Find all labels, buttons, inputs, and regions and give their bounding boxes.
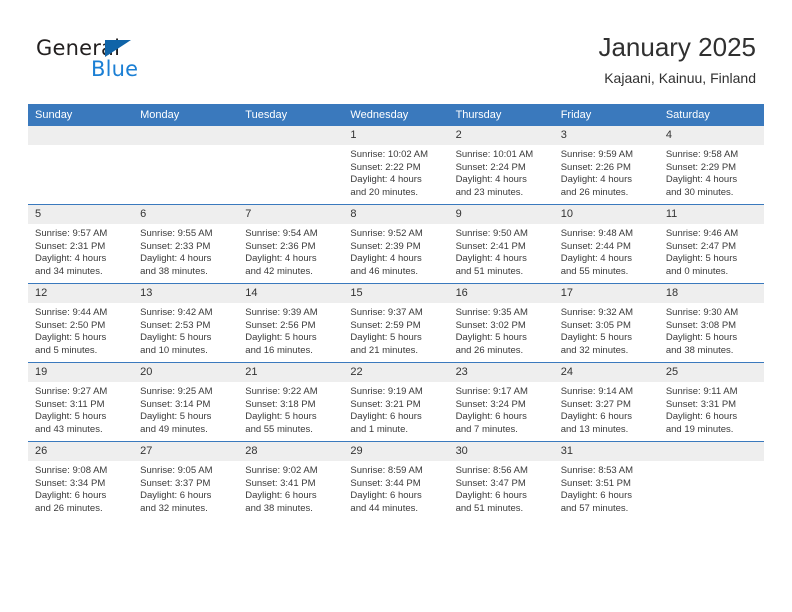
daylight-text-line2: and 23 minutes. <box>456 187 548 200</box>
daylight-text-line2: and 26 minutes. <box>456 345 548 358</box>
sunset-text: Sunset: 2:53 PM <box>140 320 232 333</box>
sunrise-text: Sunrise: 8:59 AM <box>350 465 442 478</box>
sunrise-text: Sunrise: 9:44 AM <box>35 307 127 320</box>
daylight-text-line1: Daylight: 5 hours <box>561 332 653 345</box>
weekday-header-monday: Monday <box>133 104 238 126</box>
day-details: Sunrise: 9:11 AMSunset: 3:31 PMDaylight:… <box>659 382 764 436</box>
sunset-text: Sunset: 3:31 PM <box>666 399 758 412</box>
calendar-day-cell[interactable]: 1Sunrise: 10:02 AMSunset: 2:22 PMDayligh… <box>343 126 448 205</box>
sunset-text: Sunset: 2:31 PM <box>35 241 127 254</box>
page-subtitle-location: Kajaani, Kainuu, Finland <box>598 67 756 89</box>
page-title: January 2025 <box>598 30 756 64</box>
day-details: Sunrise: 9:48 AMSunset: 2:44 PMDaylight:… <box>554 224 659 278</box>
daylight-text-line2: and 42 minutes. <box>245 266 337 279</box>
daylight-text-line1: Daylight: 4 hours <box>350 174 442 187</box>
sunrise-text: Sunrise: 9:25 AM <box>140 386 232 399</box>
day-details: Sunrise: 9:42 AMSunset: 2:53 PMDaylight:… <box>133 303 238 357</box>
day-number: 27 <box>133 442 238 461</box>
sunset-text: Sunset: 3:02 PM <box>456 320 548 333</box>
calendar-day-cell[interactable]: 26Sunrise: 9:08 AMSunset: 3:34 PMDayligh… <box>28 442 133 521</box>
calendar-day-cell[interactable]: 18Sunrise: 9:30 AMSunset: 3:08 PMDayligh… <box>659 284 764 363</box>
daylight-text-line2: and 5 minutes. <box>35 345 127 358</box>
day-details: Sunrise: 9:35 AMSunset: 3:02 PMDaylight:… <box>449 303 554 357</box>
calendar-day-cell[interactable]: 2Sunrise: 10:01 AMSunset: 2:24 PMDayligh… <box>449 126 554 205</box>
sunrise-text: Sunrise: 10:02 AM <box>350 149 442 162</box>
day-details: Sunrise: 9:19 AMSunset: 3:21 PMDaylight:… <box>343 382 448 436</box>
calendar-day-cell[interactable]: 6Sunrise: 9:55 AMSunset: 2:33 PMDaylight… <box>133 205 238 284</box>
daylight-text-line2: and 1 minute. <box>350 424 442 437</box>
logo-triangle-icon <box>105 40 131 57</box>
daylight-text-line1: Daylight: 5 hours <box>350 332 442 345</box>
sunrise-text: Sunrise: 9:30 AM <box>666 307 758 320</box>
sunset-text: Sunset: 3:18 PM <box>245 399 337 412</box>
calendar-day-cell[interactable]: 15Sunrise: 9:37 AMSunset: 2:59 PMDayligh… <box>343 284 448 363</box>
day-details: Sunrise: 9:44 AMSunset: 2:50 PMDaylight:… <box>28 303 133 357</box>
day-details: Sunrise: 9:39 AMSunset: 2:56 PMDaylight:… <box>238 303 343 357</box>
daylight-text-line2: and 55 minutes. <box>561 266 653 279</box>
sunrise-text: Sunrise: 9:35 AM <box>456 307 548 320</box>
day-number: 14 <box>238 284 343 303</box>
day-number: 31 <box>554 442 659 461</box>
sunset-text: Sunset: 3:21 PM <box>350 399 442 412</box>
daylight-text-line1: Daylight: 6 hours <box>666 411 758 424</box>
day-number: 13 <box>133 284 238 303</box>
calendar-week-row: 5Sunrise: 9:57 AMSunset: 2:31 PMDaylight… <box>28 205 764 284</box>
daylight-text-line2: and 0 minutes. <box>666 266 758 279</box>
daylight-text-line2: and 38 minutes. <box>245 503 337 516</box>
sunset-text: Sunset: 2:26 PM <box>561 162 653 175</box>
calendar-day-cell[interactable]: 31Sunrise: 8:53 AMSunset: 3:51 PMDayligh… <box>554 442 659 521</box>
sunrise-text: Sunrise: 8:56 AM <box>456 465 548 478</box>
daylight-text-line1: Daylight: 4 hours <box>666 174 758 187</box>
daylight-text-line2: and 10 minutes. <box>140 345 232 358</box>
day-number: 10 <box>554 205 659 224</box>
day-number: 2 <box>449 126 554 145</box>
calendar-day-cell-empty <box>659 442 764 521</box>
sunset-text: Sunset: 3:44 PM <box>350 478 442 491</box>
daylight-text-line2: and 20 minutes. <box>350 187 442 200</box>
calendar-day-cell[interactable]: 23Sunrise: 9:17 AMSunset: 3:24 PMDayligh… <box>449 363 554 442</box>
sunset-text: Sunset: 3:24 PM <box>456 399 548 412</box>
sunset-text: Sunset: 3:05 PM <box>561 320 653 333</box>
day-details: Sunrise: 9:05 AMSunset: 3:37 PMDaylight:… <box>133 461 238 515</box>
daylight-text-line2: and 32 minutes. <box>561 345 653 358</box>
day-number: 3 <box>554 126 659 145</box>
calendar-day-cell[interactable]: 3Sunrise: 9:59 AMSunset: 2:26 PMDaylight… <box>554 126 659 205</box>
daylight-text-line2: and 32 minutes. <box>140 503 232 516</box>
sunset-text: Sunset: 2:39 PM <box>350 241 442 254</box>
daylight-text-line1: Daylight: 4 hours <box>245 253 337 266</box>
calendar-header-row: Sunday Monday Tuesday Wednesday Thursday… <box>28 104 764 126</box>
daylight-text-line1: Daylight: 5 hours <box>35 411 127 424</box>
day-number: 21 <box>238 363 343 382</box>
daylight-text-line1: Daylight: 5 hours <box>456 332 548 345</box>
day-details: Sunrise: 8:59 AMSunset: 3:44 PMDaylight:… <box>343 461 448 515</box>
calendar-page: General Blue January 2025 Kajaani, Kainu… <box>0 0 792 612</box>
calendar-week-row: 12Sunrise: 9:44 AMSunset: 2:50 PMDayligh… <box>28 284 764 363</box>
sunrise-text: Sunrise: 9:27 AM <box>35 386 127 399</box>
calendar-day-cell[interactable]: 14Sunrise: 9:39 AMSunset: 2:56 PMDayligh… <box>238 284 343 363</box>
daylight-text-line2: and 16 minutes. <box>245 345 337 358</box>
daylight-text-line1: Daylight: 4 hours <box>456 174 548 187</box>
daylight-text-line2: and 38 minutes. <box>666 345 758 358</box>
daylight-text-line2: and 7 minutes. <box>456 424 548 437</box>
daylight-text-line1: Daylight: 6 hours <box>561 490 653 503</box>
day-details: Sunrise: 9:22 AMSunset: 3:18 PMDaylight:… <box>238 382 343 436</box>
sunrise-text: Sunrise: 9:19 AM <box>350 386 442 399</box>
daylight-text-line2: and 51 minutes. <box>456 266 548 279</box>
day-details: Sunrise: 9:30 AMSunset: 3:08 PMDaylight:… <box>659 303 764 357</box>
day-details: Sunrise: 9:55 AMSunset: 2:33 PMDaylight:… <box>133 224 238 278</box>
calendar-body: 1Sunrise: 10:02 AMSunset: 2:22 PMDayligh… <box>28 126 764 520</box>
sunset-text: Sunset: 2:33 PM <box>140 241 232 254</box>
day-details: Sunrise: 9:54 AMSunset: 2:36 PMDaylight:… <box>238 224 343 278</box>
daylight-text-line2: and 26 minutes. <box>35 503 127 516</box>
daylight-text-line1: Daylight: 5 hours <box>245 411 337 424</box>
day-number: 25 <box>659 363 764 382</box>
day-details: Sunrise: 9:14 AMSunset: 3:27 PMDaylight:… <box>554 382 659 436</box>
sunset-text: Sunset: 3:14 PM <box>140 399 232 412</box>
sunset-text: Sunset: 3:27 PM <box>561 399 653 412</box>
day-details: Sunrise: 9:08 AMSunset: 3:34 PMDaylight:… <box>28 461 133 515</box>
day-number: 24 <box>554 363 659 382</box>
day-number: 15 <box>343 284 448 303</box>
sunrise-text: Sunrise: 9:32 AM <box>561 307 653 320</box>
calendar-day-cell[interactable]: 8Sunrise: 9:52 AMSunset: 2:39 PMDaylight… <box>343 205 448 284</box>
day-number: 4 <box>659 126 764 145</box>
daylight-text-line2: and 46 minutes. <box>350 266 442 279</box>
daylight-text-line1: Daylight: 5 hours <box>140 411 232 424</box>
calendar-day-cell-empty <box>238 126 343 205</box>
day-details: Sunrise: 9:17 AMSunset: 3:24 PMDaylight:… <box>449 382 554 436</box>
day-details: Sunrise: 8:56 AMSunset: 3:47 PMDaylight:… <box>449 461 554 515</box>
daylight-text-line2: and 49 minutes. <box>140 424 232 437</box>
day-number: 11 <box>659 205 764 224</box>
daylight-text-line1: Daylight: 6 hours <box>561 411 653 424</box>
daylight-text-line1: Daylight: 4 hours <box>35 253 127 266</box>
day-number: 16 <box>449 284 554 303</box>
day-number <box>133 126 238 145</box>
daylight-text-line2: and 30 minutes. <box>666 187 758 200</box>
sunrise-text: Sunrise: 9:58 AM <box>666 149 758 162</box>
calendar-day-cell-empty <box>28 126 133 205</box>
calendar-day-cell[interactable]: 20Sunrise: 9:25 AMSunset: 3:14 PMDayligh… <box>133 363 238 442</box>
day-number: 28 <box>238 442 343 461</box>
day-details: Sunrise: 9:02 AMSunset: 3:41 PMDaylight:… <box>238 461 343 515</box>
sunrise-text: Sunrise: 9:05 AM <box>140 465 232 478</box>
day-details: Sunrise: 10:02 AMSunset: 2:22 PMDaylight… <box>343 145 448 199</box>
daylight-text-line2: and 57 minutes. <box>561 503 653 516</box>
calendar-day-cell[interactable]: 5Sunrise: 9:57 AMSunset: 2:31 PMDaylight… <box>28 205 133 284</box>
daylight-text-line2: and 34 minutes. <box>35 266 127 279</box>
daylight-text-line2: and 51 minutes. <box>456 503 548 516</box>
weekday-header-friday: Friday <box>554 104 659 126</box>
calendar-week-row: 26Sunrise: 9:08 AMSunset: 3:34 PMDayligh… <box>28 442 764 521</box>
calendar-week-row: 19Sunrise: 9:27 AMSunset: 3:11 PMDayligh… <box>28 363 764 442</box>
day-details: Sunrise: 9:25 AMSunset: 3:14 PMDaylight:… <box>133 382 238 436</box>
sunrise-text: Sunrise: 9:14 AM <box>561 386 653 399</box>
daylight-text-line1: Daylight: 5 hours <box>666 332 758 345</box>
day-details: Sunrise: 8:53 AMSunset: 3:51 PMDaylight:… <box>554 461 659 515</box>
sunrise-text: Sunrise: 9:11 AM <box>666 386 758 399</box>
day-number: 19 <box>28 363 133 382</box>
day-number: 17 <box>554 284 659 303</box>
calendar-day-cell[interactable]: 17Sunrise: 9:32 AMSunset: 3:05 PMDayligh… <box>554 284 659 363</box>
sunset-text: Sunset: 2:50 PM <box>35 320 127 333</box>
calendar-day-cell[interactable]: 13Sunrise: 9:42 AMSunset: 2:53 PMDayligh… <box>133 284 238 363</box>
day-number: 9 <box>449 205 554 224</box>
sunset-text: Sunset: 2:36 PM <box>245 241 337 254</box>
weekday-header-thursday: Thursday <box>449 104 554 126</box>
calendar-day-cell[interactable]: 29Sunrise: 8:59 AMSunset: 3:44 PMDayligh… <box>343 442 448 521</box>
sunrise-text: Sunrise: 8:53 AM <box>561 465 653 478</box>
daylight-text-line1: Daylight: 6 hours <box>140 490 232 503</box>
daylight-text-line2: and 44 minutes. <box>350 503 442 516</box>
sunrise-text: Sunrise: 9:48 AM <box>561 228 653 241</box>
day-details: Sunrise: 9:27 AMSunset: 3:11 PMDaylight:… <box>28 382 133 436</box>
calendar-day-cell[interactable]: 24Sunrise: 9:14 AMSunset: 3:27 PMDayligh… <box>554 363 659 442</box>
daylight-text-line2: and 43 minutes. <box>35 424 127 437</box>
day-details: Sunrise: 9:57 AMSunset: 2:31 PMDaylight:… <box>28 224 133 278</box>
calendar-day-cell[interactable]: 28Sunrise: 9:02 AMSunset: 3:41 PMDayligh… <box>238 442 343 521</box>
daylight-text-line1: Daylight: 5 hours <box>245 332 337 345</box>
day-number: 18 <box>659 284 764 303</box>
daylight-text-line1: Daylight: 4 hours <box>140 253 232 266</box>
calendar-day-cell[interactable]: 7Sunrise: 9:54 AMSunset: 2:36 PMDaylight… <box>238 205 343 284</box>
day-number: 22 <box>343 363 448 382</box>
sunset-text: Sunset: 3:08 PM <box>666 320 758 333</box>
calendar-day-cell[interactable]: 21Sunrise: 9:22 AMSunset: 3:18 PMDayligh… <box>238 363 343 442</box>
daylight-text-line2: and 19 minutes. <box>666 424 758 437</box>
daylight-text-line2: and 26 minutes. <box>561 187 653 200</box>
calendar-day-cell[interactable]: 16Sunrise: 9:35 AMSunset: 3:02 PMDayligh… <box>449 284 554 363</box>
sunset-text: Sunset: 3:11 PM <box>35 399 127 412</box>
daylight-text-line1: Daylight: 4 hours <box>350 253 442 266</box>
daylight-text-line1: Daylight: 5 hours <box>35 332 127 345</box>
daylight-text-line1: Daylight: 4 hours <box>561 253 653 266</box>
calendar-week-row: 1Sunrise: 10:02 AMSunset: 2:22 PMDayligh… <box>28 126 764 205</box>
page-masthead: General Blue January 2025 Kajaani, Kainu… <box>0 0 792 104</box>
sunset-text: Sunset: 3:37 PM <box>140 478 232 491</box>
day-number: 1 <box>343 126 448 145</box>
sunset-text: Sunset: 2:56 PM <box>245 320 337 333</box>
day-details: Sunrise: 9:37 AMSunset: 2:59 PMDaylight:… <box>343 303 448 357</box>
sunrise-text: Sunrise: 9:57 AM <box>35 228 127 241</box>
day-number: 12 <box>28 284 133 303</box>
daylight-text-line1: Daylight: 4 hours <box>456 253 548 266</box>
day-details: Sunrise: 9:52 AMSunset: 2:39 PMDaylight:… <box>343 224 448 278</box>
sunrise-text: Sunrise: 9:39 AM <box>245 307 337 320</box>
day-number <box>28 126 133 145</box>
day-details: Sunrise: 10:01 AMSunset: 2:24 PMDaylight… <box>449 145 554 199</box>
sunrise-text: Sunrise: 9:37 AM <box>350 307 442 320</box>
calendar-day-cell[interactable]: 12Sunrise: 9:44 AMSunset: 2:50 PMDayligh… <box>28 284 133 363</box>
day-details: Sunrise: 9:58 AMSunset: 2:29 PMDaylight:… <box>659 145 764 199</box>
sunset-text: Sunset: 2:59 PM <box>350 320 442 333</box>
sunset-text: Sunset: 2:47 PM <box>666 241 758 254</box>
calendar-day-cell[interactable]: 4Sunrise: 9:58 AMSunset: 2:29 PMDaylight… <box>659 126 764 205</box>
weekday-header-tuesday: Tuesday <box>238 104 343 126</box>
sunrise-text: Sunrise: 9:17 AM <box>456 386 548 399</box>
day-number: 26 <box>28 442 133 461</box>
sunrise-text: Sunrise: 9:42 AM <box>140 307 232 320</box>
calendar-day-cell[interactable]: 11Sunrise: 9:46 AMSunset: 2:47 PMDayligh… <box>659 205 764 284</box>
day-number: 7 <box>238 205 343 224</box>
calendar-day-cell[interactable]: 19Sunrise: 9:27 AMSunset: 3:11 PMDayligh… <box>28 363 133 442</box>
sunrise-text: Sunrise: 9:02 AM <box>245 465 337 478</box>
day-number: 23 <box>449 363 554 382</box>
calendar-day-cell[interactable]: 30Sunrise: 8:56 AMSunset: 3:47 PMDayligh… <box>449 442 554 521</box>
sunset-text: Sunset: 2:44 PM <box>561 241 653 254</box>
sunset-text: Sunset: 3:51 PM <box>561 478 653 491</box>
daylight-text-line1: Daylight: 4 hours <box>561 174 653 187</box>
sunrise-text: Sunrise: 9:55 AM <box>140 228 232 241</box>
general-blue-logo: General Blue <box>36 36 216 84</box>
daylight-text-line2: and 21 minutes. <box>350 345 442 358</box>
calendar-day-cell[interactable]: 9Sunrise: 9:50 AMSunset: 2:41 PMDaylight… <box>449 205 554 284</box>
day-details: Sunrise: 9:50 AMSunset: 2:41 PMDaylight:… <box>449 224 554 278</box>
daylight-text-line1: Daylight: 6 hours <box>350 411 442 424</box>
calendar-day-cell[interactable]: 27Sunrise: 9:05 AMSunset: 3:37 PMDayligh… <box>133 442 238 521</box>
day-details: Sunrise: 9:59 AMSunset: 2:26 PMDaylight:… <box>554 145 659 199</box>
calendar-day-cell[interactable]: 22Sunrise: 9:19 AMSunset: 3:21 PMDayligh… <box>343 363 448 442</box>
daylight-text-line2: and 13 minutes. <box>561 424 653 437</box>
sunrise-text: Sunrise: 9:50 AM <box>456 228 548 241</box>
daylight-text-line1: Daylight: 6 hours <box>245 490 337 503</box>
sunset-text: Sunset: 2:29 PM <box>666 162 758 175</box>
title-block: January 2025 Kajaani, Kainuu, Finland <box>598 30 756 89</box>
day-number: 29 <box>343 442 448 461</box>
sunset-text: Sunset: 2:24 PM <box>456 162 548 175</box>
sunset-text: Sunset: 3:41 PM <box>245 478 337 491</box>
day-number <box>659 442 764 461</box>
daylight-text-line1: Daylight: 6 hours <box>35 490 127 503</box>
daylight-text-line1: Daylight: 6 hours <box>350 490 442 503</box>
day-number: 20 <box>133 363 238 382</box>
calendar-day-cell-empty <box>133 126 238 205</box>
sunrise-text: Sunrise: 9:08 AM <box>35 465 127 478</box>
day-number: 6 <box>133 205 238 224</box>
day-number: 30 <box>449 442 554 461</box>
sunrise-text: Sunrise: 9:22 AM <box>245 386 337 399</box>
day-number: 8 <box>343 205 448 224</box>
sunrise-text: Sunrise: 9:59 AM <box>561 149 653 162</box>
calendar-day-cell[interactable]: 10Sunrise: 9:48 AMSunset: 2:44 PMDayligh… <box>554 205 659 284</box>
sunrise-text: Sunrise: 9:46 AM <box>666 228 758 241</box>
daylight-text-line2: and 55 minutes. <box>245 424 337 437</box>
month-calendar-table: Sunday Monday Tuesday Wednesday Thursday… <box>28 104 764 520</box>
daylight-text-line2: and 38 minutes. <box>140 266 232 279</box>
sunset-text: Sunset: 3:34 PM <box>35 478 127 491</box>
sunset-text: Sunset: 2:41 PM <box>456 241 548 254</box>
sunset-text: Sunset: 3:47 PM <box>456 478 548 491</box>
day-number: 5 <box>28 205 133 224</box>
day-details: Sunrise: 9:46 AMSunset: 2:47 PMDaylight:… <box>659 224 764 278</box>
sunset-text: Sunset: 2:22 PM <box>350 162 442 175</box>
calendar-day-cell[interactable]: 25Sunrise: 9:11 AMSunset: 3:31 PMDayligh… <box>659 363 764 442</box>
day-number <box>238 126 343 145</box>
daylight-text-line1: Daylight: 6 hours <box>456 490 548 503</box>
logo-word-blue: Blue <box>91 57 138 81</box>
day-details: Sunrise: 9:32 AMSunset: 3:05 PMDaylight:… <box>554 303 659 357</box>
daylight-text-line1: Daylight: 6 hours <box>456 411 548 424</box>
daylight-text-line1: Daylight: 5 hours <box>666 253 758 266</box>
sunrise-text: Sunrise: 10:01 AM <box>456 149 548 162</box>
weekday-header-sunday: Sunday <box>28 104 133 126</box>
weekday-header-saturday: Saturday <box>659 104 764 126</box>
daylight-text-line1: Daylight: 5 hours <box>140 332 232 345</box>
weekday-header-wednesday: Wednesday <box>343 104 448 126</box>
sunrise-text: Sunrise: 9:52 AM <box>350 228 442 241</box>
sunrise-text: Sunrise: 9:54 AM <box>245 228 337 241</box>
